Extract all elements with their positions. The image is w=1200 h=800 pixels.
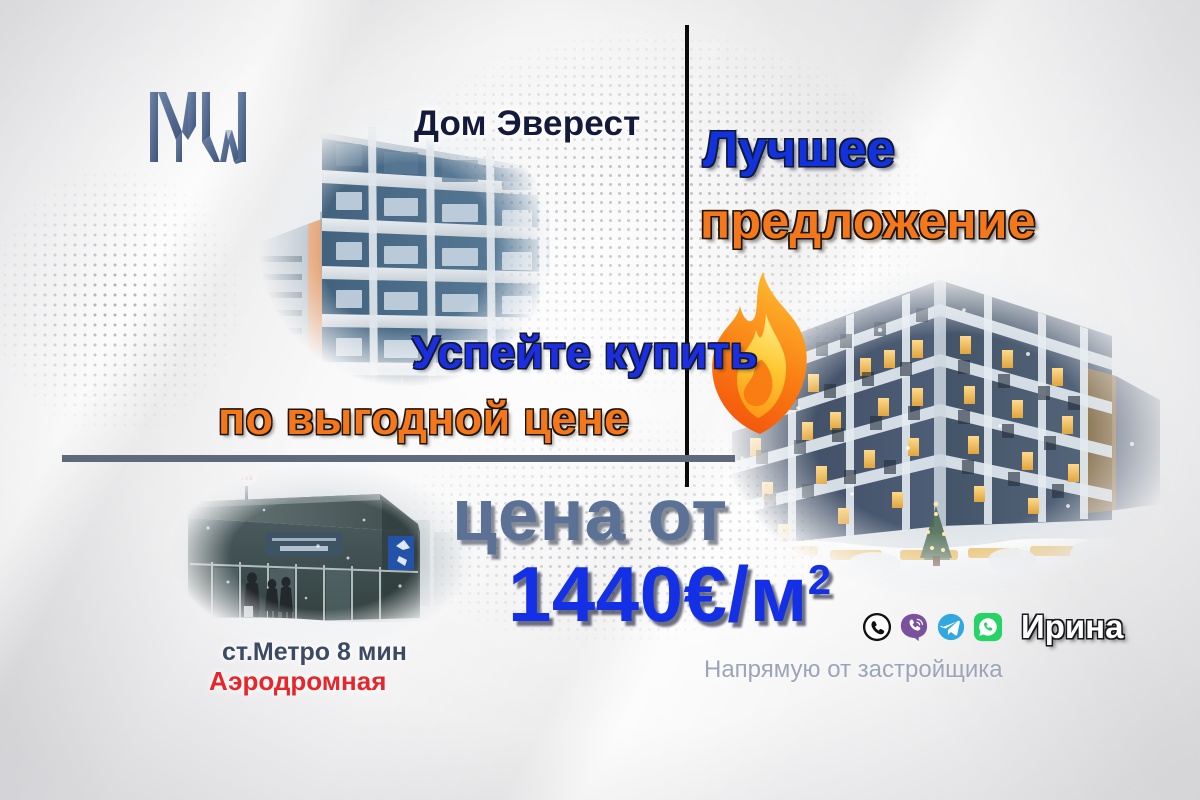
metro-station-name: Аэродромная [209,668,386,694]
metro-entrance-photo: М [168,458,478,643]
price-value: 1440€/м2 [508,555,832,633]
telegram-icon[interactable] [936,612,966,642]
price-from-label: цена от [452,479,728,552]
headline-offer: предложение [700,196,1036,246]
vertical-divider [685,25,689,487]
phone-icon[interactable] [862,612,892,642]
headline-best: Лучшее [703,124,895,174]
developer-note: Напрямую от застройщика [704,658,1003,682]
contact-name: Ирина [1021,610,1123,643]
whatsapp-icon[interactable] [973,612,1003,642]
brand-logo-mw-icon [142,78,254,174]
house-name-title: Дом Эверест [414,106,641,141]
price-unit-exponent: 2 [808,556,832,603]
viber-icon[interactable] [899,612,929,642]
horizontal-divider [62,455,735,462]
metro-walk-time: ст.Метро 8 мин [222,640,407,665]
promo-banner: М [0,0,1200,800]
price-amount: 1440€/м [508,550,808,638]
headline-hurry-to-buy: Успейте купить [412,330,758,375]
svg-text:М: М [240,467,253,484]
headline-good-price: по выгодной цене [218,396,629,441]
contact-bar: Ирина [862,610,1123,643]
